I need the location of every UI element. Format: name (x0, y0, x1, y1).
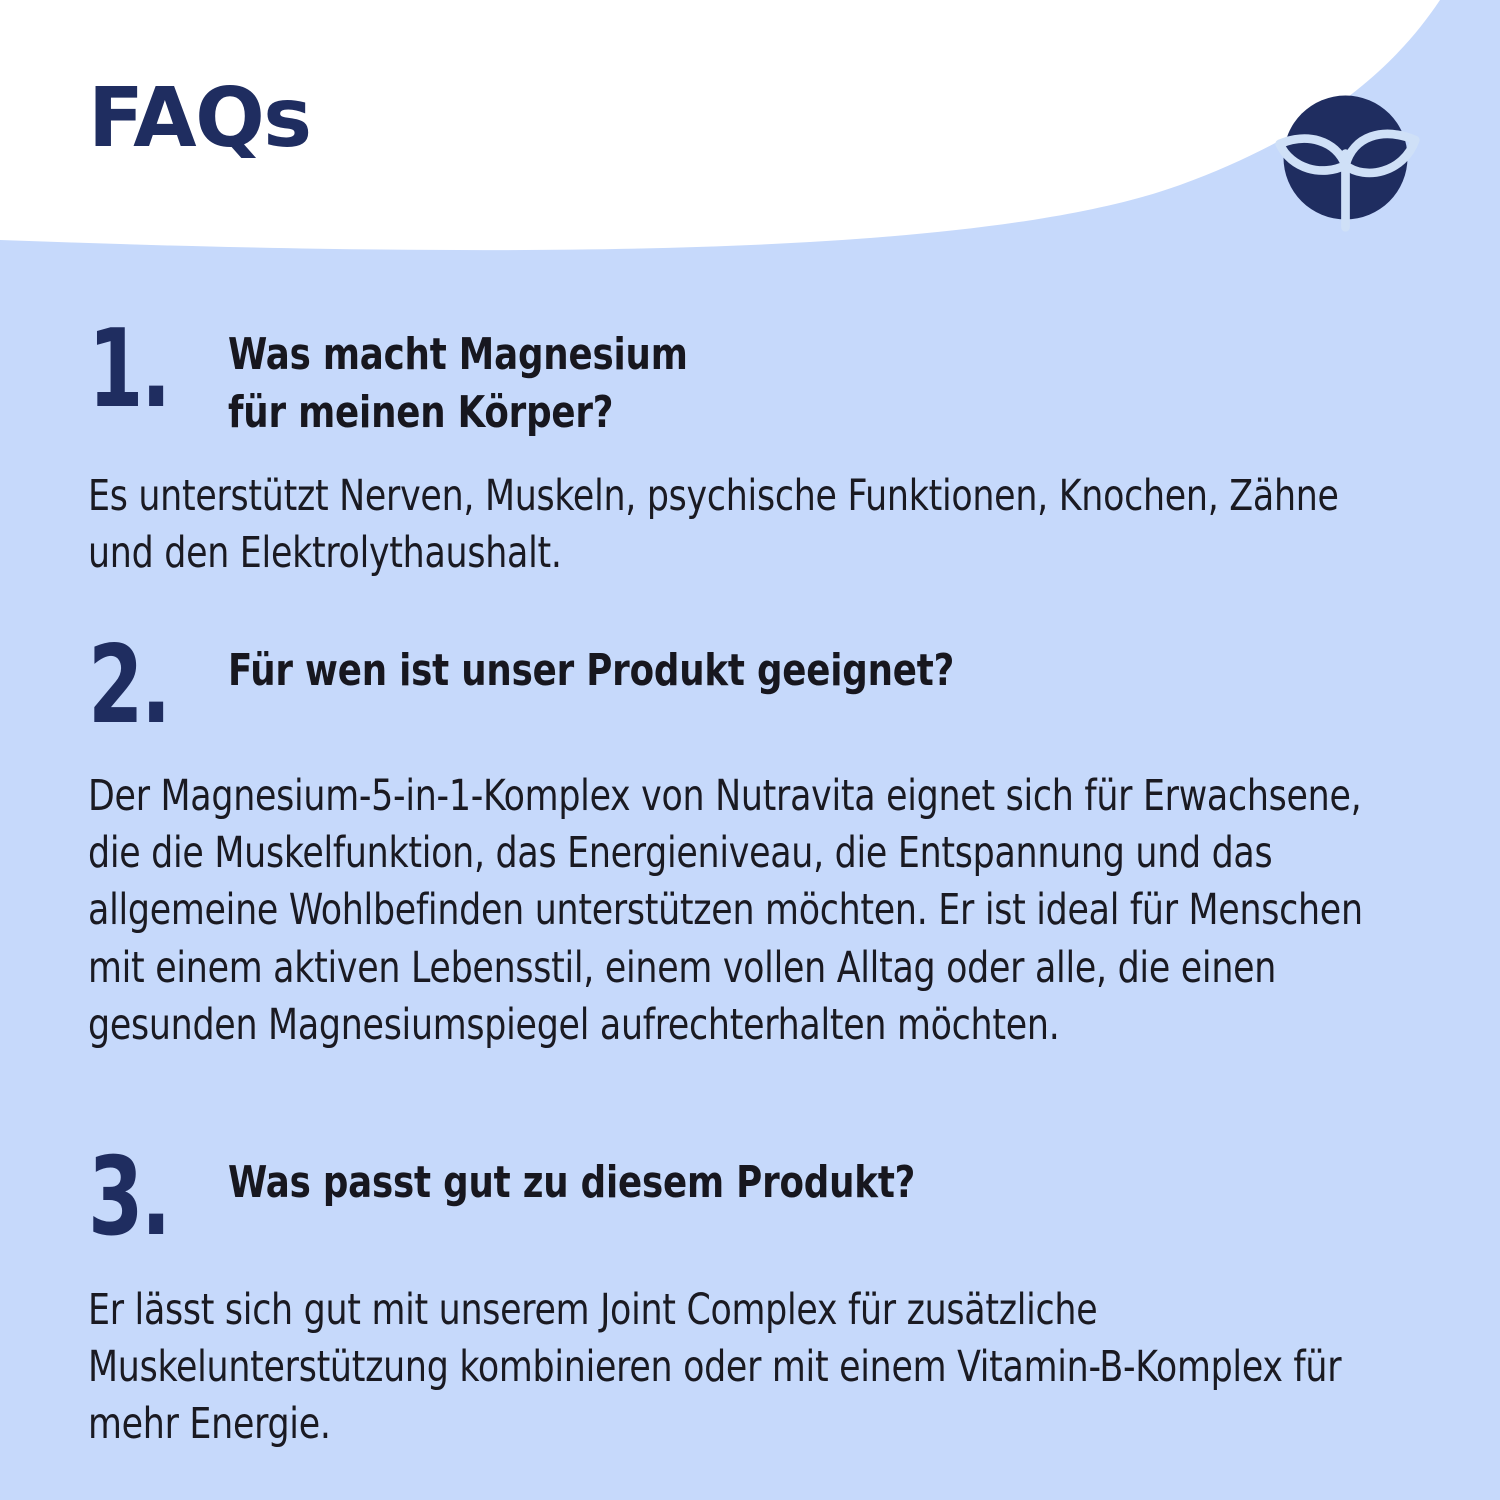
faq-number: 2. (88, 634, 169, 738)
faq-header[interactable]: 2. Für wen ist unser Produkt geeignet? (88, 634, 1418, 738)
faq-item[interactable]: 3. Was passt gut zu diesem Produkt? Er l… (88, 1146, 1418, 1454)
faq-question: Was passt gut zu diesem Produkt? (228, 1146, 1299, 1212)
faq-question-line: für meinen Körper? (228, 384, 1299, 442)
faq-question-line: Was macht Magnesium (228, 326, 1299, 384)
faq-question: Was macht Magnesium für meinen Körper? (228, 318, 1299, 442)
faq-number: 3. (88, 1146, 169, 1250)
faq-item[interactable]: 2. Für wen ist unser Produkt geeignet? D… (88, 634, 1418, 1054)
faq-answer: Er lässt sich gut mit unserem Joint Comp… (88, 1282, 1402, 1454)
faq-question: Für wen ist unser Produkt geeignet? (228, 634, 1299, 700)
faq-answer: Der Magnesium-5-in-1-Komplex von Nutravi… (88, 768, 1402, 1054)
faq-item[interactable]: 1. Was macht Magnesium für meinen Körper… (88, 318, 1418, 583)
faq-number: 1. (88, 318, 169, 422)
faq-header[interactable]: 1. Was macht Magnesium für meinen Körper… (88, 318, 1418, 442)
sprout-leaf-logo (1268, 80, 1423, 235)
faq-header[interactable]: 3. Was passt gut zu diesem Produkt? (88, 1146, 1418, 1250)
page-title: FAQs (88, 78, 311, 160)
faq-answer: Es unterstützt Nerven, Muskeln, psychisc… (88, 468, 1402, 582)
